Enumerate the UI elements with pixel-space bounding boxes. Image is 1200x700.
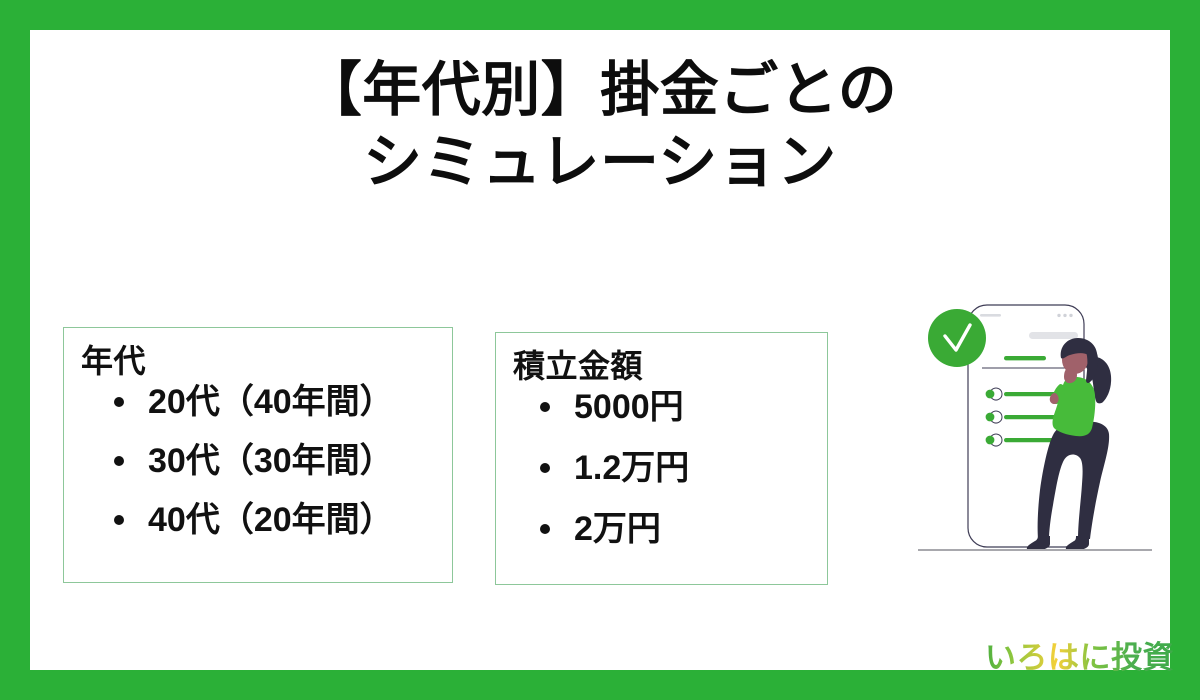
bullet-icon: [114, 456, 124, 466]
slide-canvas: 【年代別】掛金ごとの シミュレーション 年代 20代（40年間） 30代（30年…: [30, 30, 1170, 670]
list-item-label: 30代（30年間）: [148, 442, 394, 480]
check-badge-icon: [928, 309, 986, 367]
bullet-icon: [114, 397, 124, 407]
phone-status-dot-icon: [1063, 314, 1066, 317]
list-item: 40代（20年間）: [64, 503, 452, 537]
list-item-label: 5000円: [574, 388, 684, 426]
brand-logo: いろはに投資: [985, 632, 1174, 677]
slide-root: 【年代別】掛金ごとの シミュレーション 年代 20代（40年間） 30代（30年…: [0, 0, 1200, 700]
info-box-amount-heading: 積立金額: [513, 341, 643, 387]
bullet-icon: [540, 463, 550, 473]
page-title: 【年代別】掛金ごとの シミュレーション: [30, 55, 1170, 199]
info-box-age-list: 20代（40年間） 30代（30年間） 40代（20年間）: [64, 385, 452, 562]
info-box-age-heading: 年代: [81, 336, 146, 382]
phone-status-left-icon: [980, 314, 1001, 317]
list-item: 1.2万円: [496, 451, 827, 485]
phone-title-bar: [1004, 356, 1046, 360]
phone-status-dot-icon: [1057, 314, 1060, 317]
phone-status-dot-icon: [1069, 314, 1072, 317]
info-box-amount: 積立金額 5000円 1.2万円 2万円: [495, 332, 828, 585]
bullet-icon: [540, 524, 550, 534]
title-line-2: シミュレーション: [30, 127, 1170, 199]
illustration-svg: [910, 280, 1160, 570]
bullet-icon: [114, 515, 124, 525]
illustration-woman-phone-checklist: [910, 280, 1160, 570]
list-item-label: 1.2万円: [574, 449, 689, 487]
list-item-label: 2万円: [574, 510, 661, 548]
info-box-amount-list: 5000円 1.2万円 2万円: [496, 390, 827, 573]
phone-header-bar: [1029, 332, 1078, 339]
info-box-age: 年代 20代（40年間） 30代（30年間） 40代（20年間）: [63, 327, 453, 583]
list-item: 30代（30年間）: [64, 444, 452, 478]
list-item-label: 40代（20年間）: [148, 501, 394, 539]
list-item: 5000円: [496, 390, 827, 424]
title-line-1: 【年代別】掛金ごとの: [30, 55, 1170, 127]
list-item: 20代（40年間）: [64, 385, 452, 419]
list-item-label: 20代（40年間）: [148, 383, 394, 421]
list-item: 2万円: [496, 512, 827, 546]
bullet-icon: [540, 402, 550, 412]
